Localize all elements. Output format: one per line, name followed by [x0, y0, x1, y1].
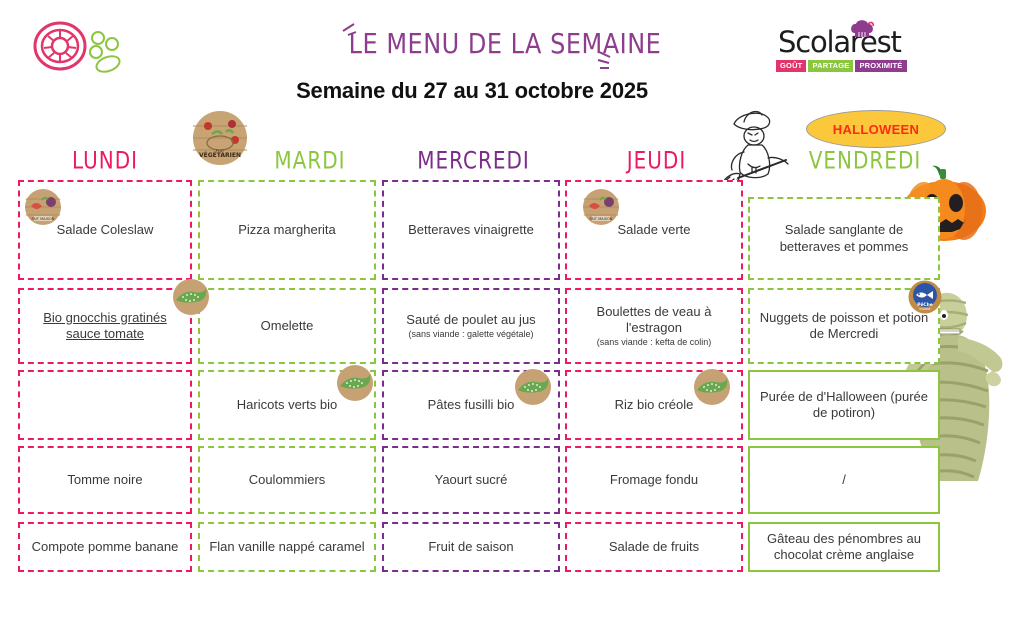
dish-text: Fromage fondu	[610, 472, 698, 488]
menu-cell-mardi-dessert: Flan vanille nappé caramel	[198, 522, 376, 572]
dish-text: Bio gnocchis gratinés sauce tomate	[27, 310, 183, 343]
dish-text: Pâtes fusilli bio	[428, 397, 515, 413]
dish-text: Salade verte	[618, 222, 691, 238]
dish-text: Fruit de saison	[428, 539, 513, 555]
logo-tag-partage: PARTAGE	[808, 60, 853, 72]
dish-note: (sans viande : galette végétale)	[408, 329, 533, 340]
menu-cell-jeudi-plat: Boulettes de veau à l'estragon (sans via…	[565, 288, 743, 364]
menu-cell-vendredi-garniture: Purée de d'Halloween (purée de potiron)	[748, 370, 940, 440]
svg-text:FAIT MAISON: FAIT MAISON	[31, 217, 54, 221]
dish-text: Purée de d'Halloween (purée de potiron)	[757, 389, 931, 422]
scolarest-logo: Scolarest GOÛT PARTAGE PROXIMITÉ	[776, 28, 916, 72]
page-title: LE MENU DE LA SEMAINE	[330, 28, 680, 60]
svg-text:PLAT: PLAT	[216, 149, 225, 153]
eu-organic-leaf-badge-lundi	[172, 278, 210, 316]
dish-text: Haricots verts bio	[237, 397, 337, 413]
dish-text: Tomme noire	[67, 472, 142, 488]
sparkle-right-icon	[596, 48, 622, 74]
eu-organic-leaf-badge-mercredi	[514, 368, 552, 406]
day-header-mercredi: MERCREDI	[382, 146, 565, 175]
dish-text: Salade sanglante de betteraves et pommes	[757, 222, 931, 255]
svg-text:FAIT MAISON: FAIT MAISON	[589, 217, 612, 221]
menu-cell-jeudi-fromage: Fromage fondu	[565, 446, 743, 514]
menu-cell-lundi-fromage: Tomme noire	[18, 446, 192, 514]
eu-organic-leaf-badge-jeudi	[693, 368, 731, 406]
menu-cell-lundi-garniture	[18, 370, 192, 440]
dish-text: Flan vanille nappé caramel	[209, 539, 364, 555]
menu-cell-lundi-plat: Bio gnocchis gratinés sauce tomate	[18, 288, 192, 364]
chef-hat-icon	[850, 19, 874, 41]
dish-text: Nuggets de poisson et potion de Mercredi	[757, 310, 931, 343]
svg-text:PêChe: PêChe	[917, 301, 933, 308]
dish-text: Coulommiers	[249, 472, 326, 488]
menu-cell-mardi-fromage: Coulommiers	[198, 446, 376, 514]
logo-wordmark: Scolarest	[776, 28, 916, 57]
menu-cell-mercredi-plat: Sauté de poulet au jus (sans viande : ga…	[382, 288, 560, 364]
halloween-badge: HALLOWEEN	[806, 110, 946, 148]
dish-text: Pizza margherita	[238, 222, 336, 238]
menu-cell-vendredi-fromage: /	[748, 446, 940, 514]
menu-cell-mercredi-entree: Betteraves vinaigrette	[382, 180, 560, 280]
svg-text:DURABLE: DURABLE	[919, 308, 931, 311]
menu-cell-jeudi-dessert: Salade de fruits	[565, 522, 743, 572]
menu-cell-mardi-plat: Omelette	[198, 288, 376, 364]
dish-note: (sans viande : kefta de colin)	[597, 337, 712, 348]
day-header-mardi: MARDI	[238, 146, 382, 175]
fait-maison-badge-jeudi: FAIT MAISON	[582, 188, 620, 226]
dish-text: Compote pomme banane	[32, 539, 179, 555]
menu-cell-mercredi-fromage: Yaourt sucré	[382, 446, 560, 514]
vegetable-decoration-icon	[28, 18, 138, 78]
logo-tag-gout: GOÛT	[776, 60, 806, 72]
dish-text: Omelette	[261, 318, 314, 334]
dish-text: Salade de fruits	[609, 539, 699, 555]
logo-tag-proximite: PROXIMITÉ	[855, 60, 906, 72]
day-header-jeudi: JEUDI	[565, 146, 748, 175]
menu-cell-mardi-entree: Pizza margherita	[198, 180, 376, 280]
menu-cell-vendredi-dessert: Gâteau des pénombres au chocolat crème a…	[748, 522, 940, 572]
menu-cell-mercredi-dessert: Fruit de saison	[382, 522, 560, 572]
dish-text: Boulettes de veau à l'estragon	[574, 304, 734, 337]
menu-page: LE MENU DE LA SEMAINE Semaine du 27 au 3…	[0, 0, 1024, 628]
dish-text: Sauté de poulet au jus	[406, 312, 535, 328]
dish-text: /	[842, 472, 846, 488]
menu-cell-lundi-dessert: Compote pomme banane	[18, 522, 192, 572]
day-header-vendredi: VENDREDI	[790, 146, 940, 175]
dish-text: Riz bio créole	[615, 397, 694, 413]
peche-durable-badge: PêChe DURABLE	[908, 280, 942, 314]
fait-maison-badge-lundi: FAIT MAISON	[24, 188, 62, 226]
menu-cell-vendredi-entree: Salade sanglante de betteraves et pommes	[748, 197, 940, 280]
eu-organic-leaf-badge-mardi	[336, 364, 374, 402]
week-subtitle: Semaine du 27 au 31 octobre 2025	[262, 78, 682, 104]
dish-text: Yaourt sucré	[435, 472, 508, 488]
dish-text: Betteraves vinaigrette	[408, 222, 534, 238]
dish-text: Gâteau des pénombres au chocolat crème a…	[757, 531, 931, 564]
dish-text: Salade Coleslaw	[57, 222, 154, 238]
day-header-lundi: LUNDI	[18, 146, 192, 175]
